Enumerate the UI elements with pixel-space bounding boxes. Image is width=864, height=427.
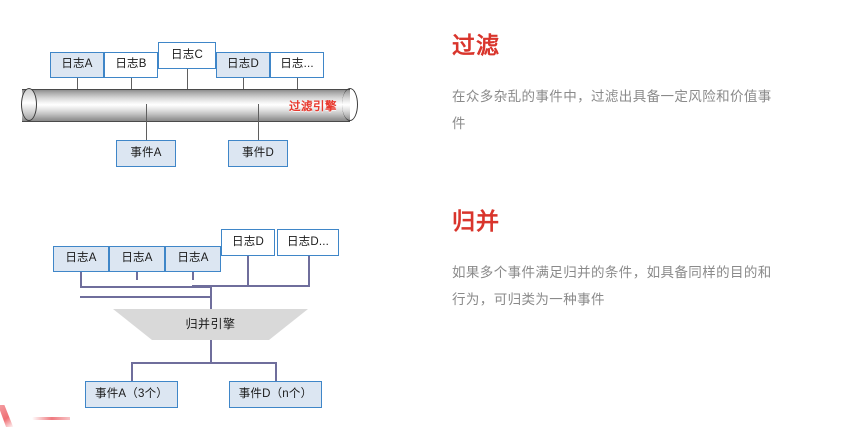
merge-log-box-1[interactable]: 日志A (53, 246, 109, 272)
merge-event-box-2[interactable]: 事件D（n个） (229, 381, 322, 408)
merge-connector-log-3 (192, 272, 194, 280)
merge-log-box-2[interactable]: 日志A (109, 246, 165, 272)
corner-decoration-bar-icon (32, 417, 70, 420)
merge-engine-label: 归并引擎 (185, 315, 235, 332)
filter-event-box-1[interactable]: 事件A (116, 140, 176, 167)
merge-connector-log-1 (80, 272, 82, 287)
filter-log-box-5[interactable]: 日志... (270, 52, 324, 78)
section-filter-body: 在众多杂乱的事件中，过滤出具备一定风险和价值事件 (452, 83, 782, 137)
merge-log-box-5[interactable]: 日志D... (277, 229, 339, 256)
merge-log-box-3[interactable]: 日志A (165, 246, 221, 272)
corner-decoration-stroke-icon (0, 405, 14, 427)
section-merge: 归并 如果多个事件满足归并的条件，如具备同样的目的和行为，可归类为一种事件 (452, 210, 782, 313)
merge-connector-log-2 (136, 272, 138, 280)
merge-connector-event-1 (131, 362, 133, 382)
merge-busbar-main (80, 296, 212, 298)
filter-log-box-4[interactable]: 日志D (216, 52, 270, 78)
merge-log-box-4[interactable]: 日志D (221, 229, 275, 256)
section-filter: 过滤 在众多杂乱的事件中，过滤出具备一定风险和价值事件 (452, 34, 782, 137)
section-filter-title: 过滤 (452, 34, 782, 57)
merge-engine-stem (210, 285, 212, 310)
filter-log-box-1[interactable]: 日志A (50, 52, 104, 78)
section-merge-body: 如果多个事件满足归并的条件，如具备同样的目的和行为，可归类为一种事件 (452, 259, 782, 313)
merge-event-box-1[interactable]: 事件A（3个） (85, 381, 178, 408)
section-merge-title: 归并 (452, 210, 782, 233)
filter-connector-event-2 (258, 104, 259, 140)
filter-log-box-2[interactable]: 日志B (104, 52, 158, 78)
filter-connector-event-1 (146, 104, 147, 140)
merge-output-busbar (131, 362, 276, 364)
corner-decoration (0, 401, 70, 427)
merge-busbar-left (80, 286, 210, 288)
merge-engine-shape: 归并引擎 (113, 309, 308, 340)
filter-log-box-3[interactable]: 日志C (158, 42, 216, 69)
merge-connector-log-4 (247, 256, 249, 286)
merge-connector-event-2 (275, 362, 277, 382)
filter-engine-label: 过滤引擎 (289, 98, 337, 114)
filter-event-box-2[interactable]: 事件D (228, 140, 288, 167)
slide-canvas: 日志A 日志B 日志C 日志D 日志... 过滤引擎 事件A 事件D 日志A 日… (0, 0, 864, 427)
merge-output-stem (210, 340, 212, 363)
filter-pipe-left-cap (21, 88, 37, 121)
filter-pipe-right-cap (342, 88, 358, 121)
merge-connector-log-5 (308, 256, 310, 286)
